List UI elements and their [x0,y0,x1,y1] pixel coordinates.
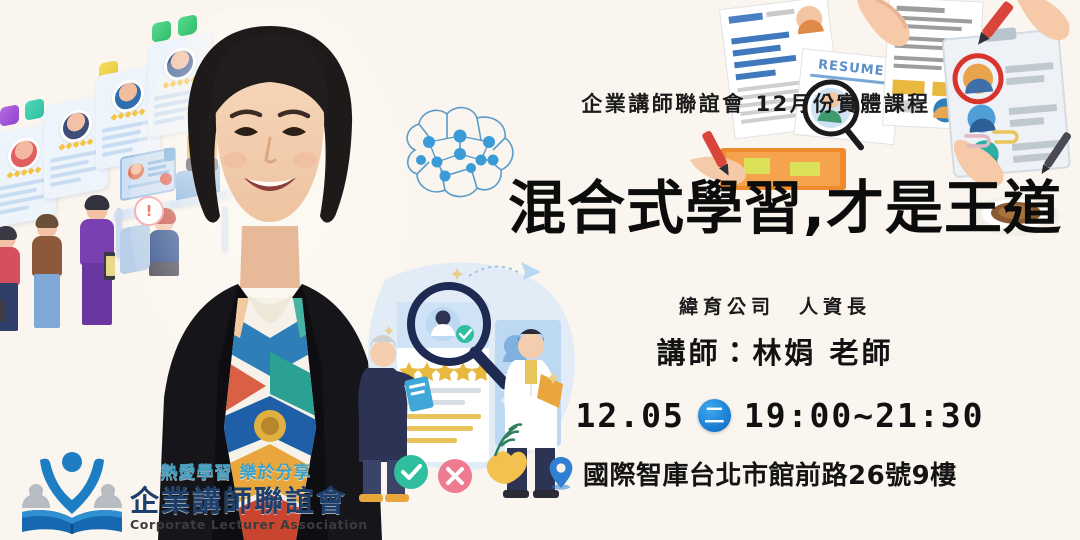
page-title: 混合式學習,才是王道 [505,178,1065,239]
venue-address: 國際智庫台北市館前路26號9樓 [583,455,957,492]
course-subtitle: 企業講師聯誼會 12月份實體課程 [546,88,966,118]
speaker-name: 講師：林娟 老師 [560,330,990,372]
schedule-row: 12.05 二 19:00~21:30 [560,393,1000,437]
logo-text-block: 熱愛學習 樂於分享 企業講師聯誼會 Corporate Lecturer Ass… [130,464,342,532]
tag-square-purple [0,104,19,127]
logo-org-name-en: Corporate Lecturer Association [130,518,342,532]
logo-org-name: 企業講師聯誼會 [130,485,342,517]
event-date: 12.05 [576,396,685,435]
location-pin-icon [548,456,574,490]
organization-logo: 熱愛學習 樂於分享 企業講師聯誼會 Corporate Lecturer Ass… [20,442,340,538]
standing-person-3 [76,200,118,328]
speaker-org-role: 緯育公司 人資長 [560,292,990,319]
logo-tagline: 熱愛學習 樂於分享 [130,464,342,484]
venue-row: 國際智庫台北市館前路26號9樓 [548,452,1000,494]
standing-person-2 [28,218,66,330]
event-time: 19:00~21:30 [744,396,985,435]
weekday-badge: 二 [698,399,731,432]
briefcase-icon [0,300,6,322]
event-poster: ! [0,0,1080,540]
tag-square-teal [25,98,44,121]
person-book-logo-icon [20,446,124,536]
